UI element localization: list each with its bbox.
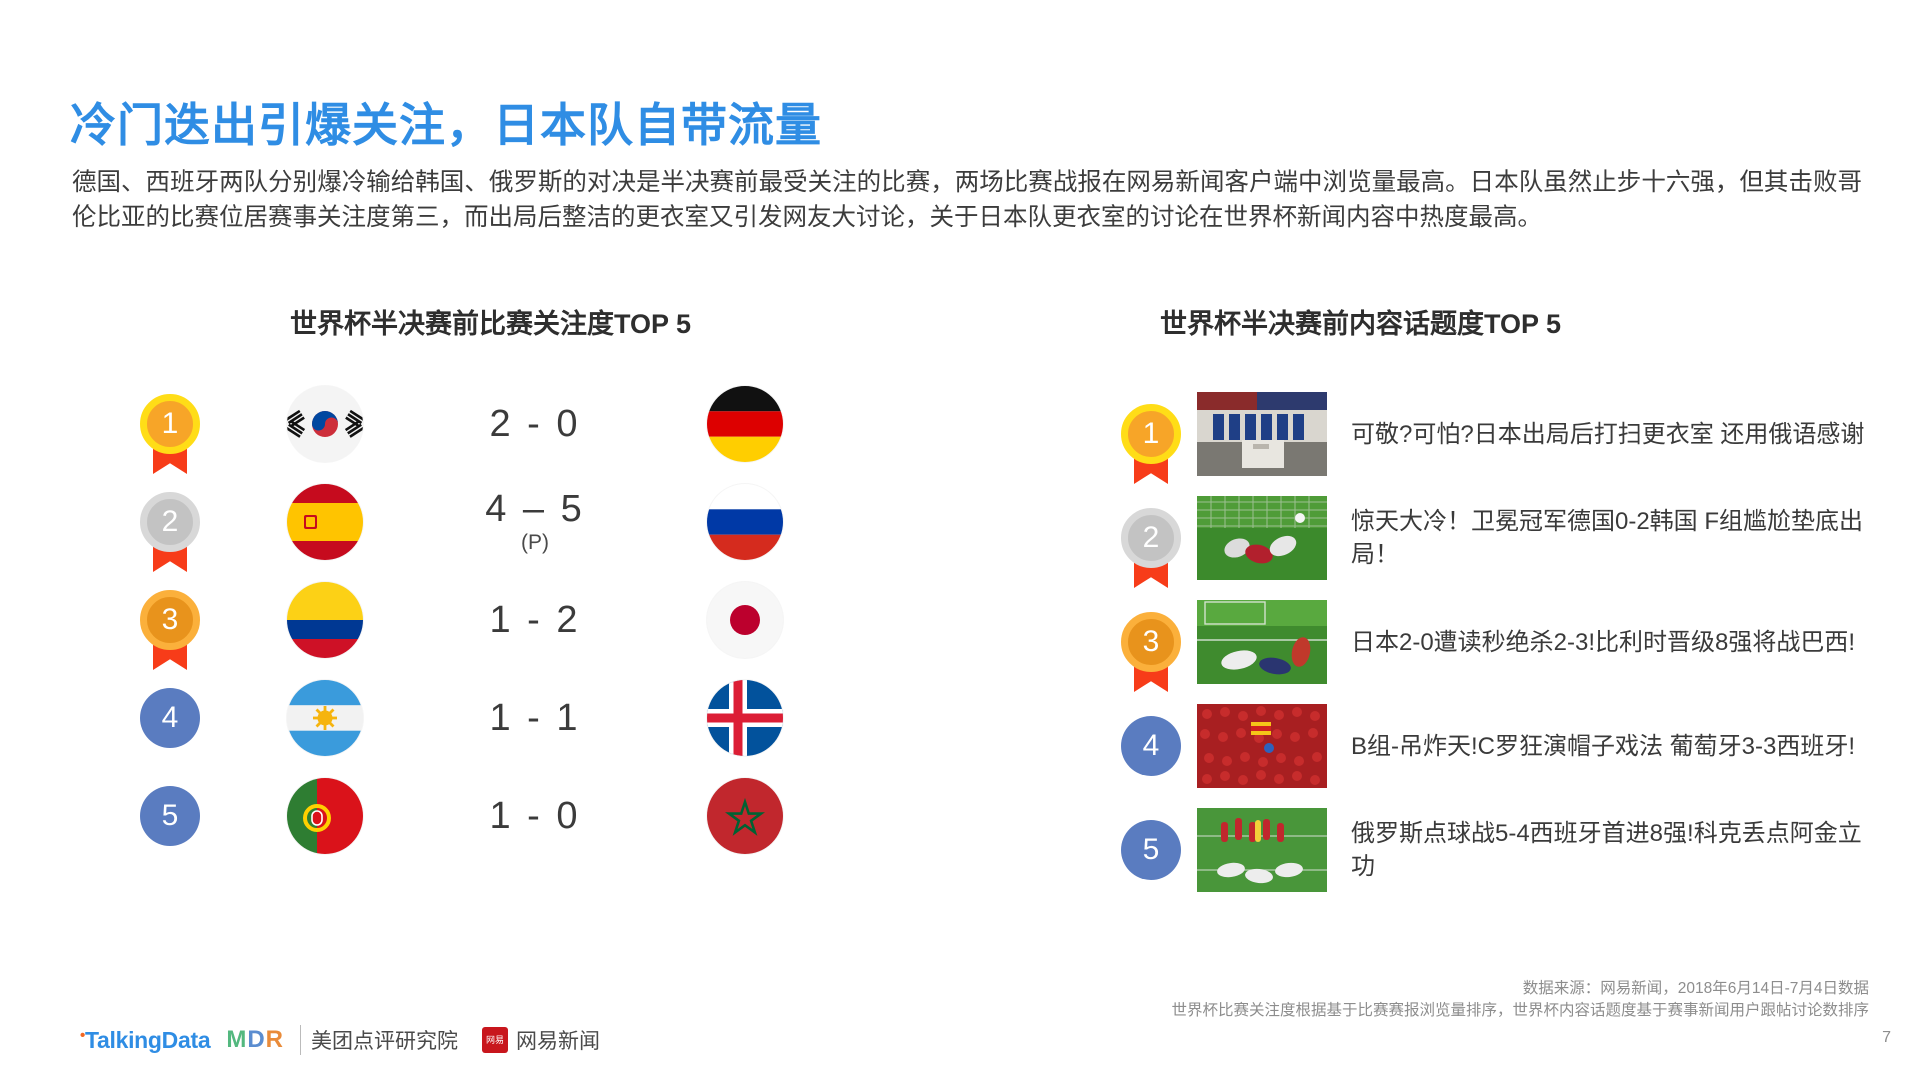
match-score: 1 - 0: [420, 796, 650, 836]
rank-medal-silver: 2: [140, 492, 200, 552]
rank-number: 3: [140, 590, 200, 650]
news-row[interactable]: 3 日本2-0遭读秒绝杀2-3!比利时晋级8强将战巴西!: [1105, 590, 1905, 694]
rank-medal-gold: 1: [1121, 404, 1181, 464]
pitch-players-photo[interactable]: [1197, 600, 1327, 684]
source-line-2: 世界杯比赛关注度根据基于比赛赛报浏览量排序，世界杯内容话题度基于赛事新闻用户跟帖…: [1171, 1000, 1869, 1022]
match-score-cell: 4 – 5(P): [420, 489, 650, 555]
match-row: 4 1 - 1: [110, 669, 900, 767]
talkingdata-logo-text: TalkingData: [85, 1027, 210, 1053]
away-team-cell: [650, 680, 840, 756]
match-score: 2 - 0: [420, 404, 650, 444]
match-attention-list: 1 2 - 02 4 – 5(P)31 - 24 1 - 1 5 1 - 0: [110, 375, 900, 865]
rank-number: 2: [140, 492, 200, 552]
home-team-cell: [230, 778, 420, 854]
news-row[interactable]: 1 可敬?可怕?日本出局后打扫更衣室 还用俄语感谢: [1105, 382, 1905, 486]
home-team-cell: [230, 386, 420, 462]
news-title[interactable]: 俄罗斯点球战5-4西班牙首进8强!科克丢点阿金立功: [1351, 817, 1881, 883]
rank-number: 5: [140, 786, 200, 846]
match-row: 1 2 - 0: [110, 375, 900, 473]
page-title: 冷门迭出引爆关注，日本队自带流量: [70, 89, 822, 155]
match-rank-cell: 4: [110, 688, 230, 748]
goal-celebration-photo[interactable]: [1197, 496, 1327, 580]
match-rank-cell: 2: [110, 492, 230, 552]
home-team-cell: [230, 680, 420, 756]
match-score: 1 - 2: [420, 600, 650, 640]
rank-medal-bronze: 3: [140, 590, 200, 650]
germany-flag: [707, 386, 783, 462]
news-row[interactable]: 4 B组-吊炸天!C罗狂演帽子戏法 葡萄牙3-3西班牙!: [1105, 694, 1905, 798]
match-score-cell: 1 - 1: [420, 698, 650, 738]
match-rank-cell: 1: [110, 394, 230, 454]
morocco-flag: [707, 778, 783, 854]
match-score-cell: 1 - 2: [420, 600, 650, 640]
match-score-cell: 1 - 0: [420, 796, 650, 836]
away-team-cell: [650, 778, 840, 854]
portugal-flag: [287, 778, 363, 854]
away-team-cell: [650, 386, 840, 462]
locker-room-photo[interactable]: [1197, 392, 1327, 476]
news-rank-cell: 5: [1105, 820, 1197, 880]
news-rank-cell: 2: [1105, 508, 1197, 568]
rank-medal-gold: 1: [140, 394, 200, 454]
home-team-cell: [230, 484, 420, 560]
rank-number: 3: [1121, 612, 1181, 672]
mdr-logo-m: M: [226, 1026, 247, 1053]
rank-medal-plain: 5: [1121, 820, 1181, 880]
iceland-flag: [707, 680, 783, 756]
news-topic-list: 1 可敬?可怕?日本出局后打扫更衣室 还用俄语感谢2 惊天大冷！卫冕冠军德国0-…: [1105, 382, 1905, 902]
news-title[interactable]: 日本2-0遭读秒绝杀2-3!比利时晋级8强将战巴西!: [1351, 626, 1855, 659]
news-row[interactable]: 2 惊天大冷！卫冕冠军德国0-2韩国 F组尴尬垫底出局！: [1105, 486, 1905, 590]
match-row: 2 4 – 5(P): [110, 473, 900, 571]
mdr-logo-d: D: [247, 1026, 265, 1053]
meituan-research-logo: 美团点评研究院: [300, 1025, 458, 1055]
japan-flag: [707, 582, 783, 658]
rank-number: 2: [1121, 508, 1181, 568]
match-score-cell: 2 - 0: [420, 404, 650, 444]
rank-number: 5: [1121, 820, 1181, 880]
rank-number: 1: [140, 394, 200, 454]
red-crowd-photo[interactable]: [1197, 704, 1327, 788]
netease-logo-text: 网易新闻: [516, 1025, 600, 1055]
argentina-flag: [287, 680, 363, 756]
news-title[interactable]: 可敬?可怕?日本出局后打扫更衣室 还用俄语感谢: [1351, 418, 1864, 451]
talkingdata-logo: •TalkingData: [80, 1027, 210, 1054]
left-panel-heading: 世界杯半决赛前比赛关注度TOP 5: [290, 302, 691, 341]
news-rank-cell: 4: [1105, 716, 1197, 776]
match-score: 4 – 5: [420, 489, 650, 529]
page-number: 7: [1882, 1029, 1891, 1047]
news-row[interactable]: 5 俄罗斯点球战5-4西班牙首进8强!科克丢点阿金立功: [1105, 798, 1905, 902]
rank-medal-plain: 5: [140, 786, 200, 846]
intro-paragraph: 德国、西班牙两队分别爆冷输给韩国、俄罗斯的对决是半决赛前最受关注的比赛，两场比赛…: [72, 165, 1862, 235]
source-note: 数据来源：网易新闻，2018年6月14日-7月4日数据 世界杯比赛关注度根据基于…: [1171, 978, 1869, 1022]
rank-medal-silver: 2: [1121, 508, 1181, 568]
rank-medal-plain: 4: [140, 688, 200, 748]
rank-number: 4: [1121, 716, 1181, 776]
news-rank-cell: 1: [1105, 404, 1197, 464]
rank-number: 1: [1121, 404, 1181, 464]
match-rank-cell: 3: [110, 590, 230, 650]
netease-logo: 网易 网易新闻: [482, 1025, 600, 1055]
away-team-cell: [650, 484, 840, 560]
rank-medal-plain: 4: [1121, 716, 1181, 776]
mdr-logo: MDR: [226, 1026, 284, 1054]
team-huddle-photo[interactable]: [1197, 808, 1327, 892]
spain-flag: [287, 484, 363, 560]
match-score: 1 - 1: [420, 698, 650, 738]
home-team-cell: [230, 582, 420, 658]
russia-flag: [707, 484, 783, 560]
match-row: 5 1 - 0: [110, 767, 900, 865]
match-score-note: (P): [420, 531, 650, 555]
rank-number: 4: [140, 688, 200, 748]
news-rank-cell: 3: [1105, 612, 1197, 672]
colombia-flag: [287, 582, 363, 658]
south-korea-flag: [287, 386, 363, 462]
news-title[interactable]: 惊天大冷！卫冕冠军德国0-2韩国 F组尴尬垫底出局！: [1351, 505, 1881, 571]
match-row: 31 - 2: [110, 571, 900, 669]
footer-logos: •TalkingData MDR 美团点评研究院 网易 网易新闻: [80, 1025, 600, 1055]
netease-mark-icon: 网易: [482, 1027, 508, 1053]
news-title[interactable]: B组-吊炸天!C罗狂演帽子戏法 葡萄牙3-3西班牙!: [1351, 730, 1855, 763]
rank-medal-bronze: 3: [1121, 612, 1181, 672]
away-team-cell: [650, 582, 840, 658]
source-line-1: 数据来源：网易新闻，2018年6月14日-7月4日数据: [1171, 978, 1869, 1000]
right-panel-heading: 世界杯半决赛前内容话题度TOP 5: [1160, 302, 1561, 341]
match-rank-cell: 5: [110, 786, 230, 846]
mdr-logo-r: R: [266, 1026, 284, 1053]
